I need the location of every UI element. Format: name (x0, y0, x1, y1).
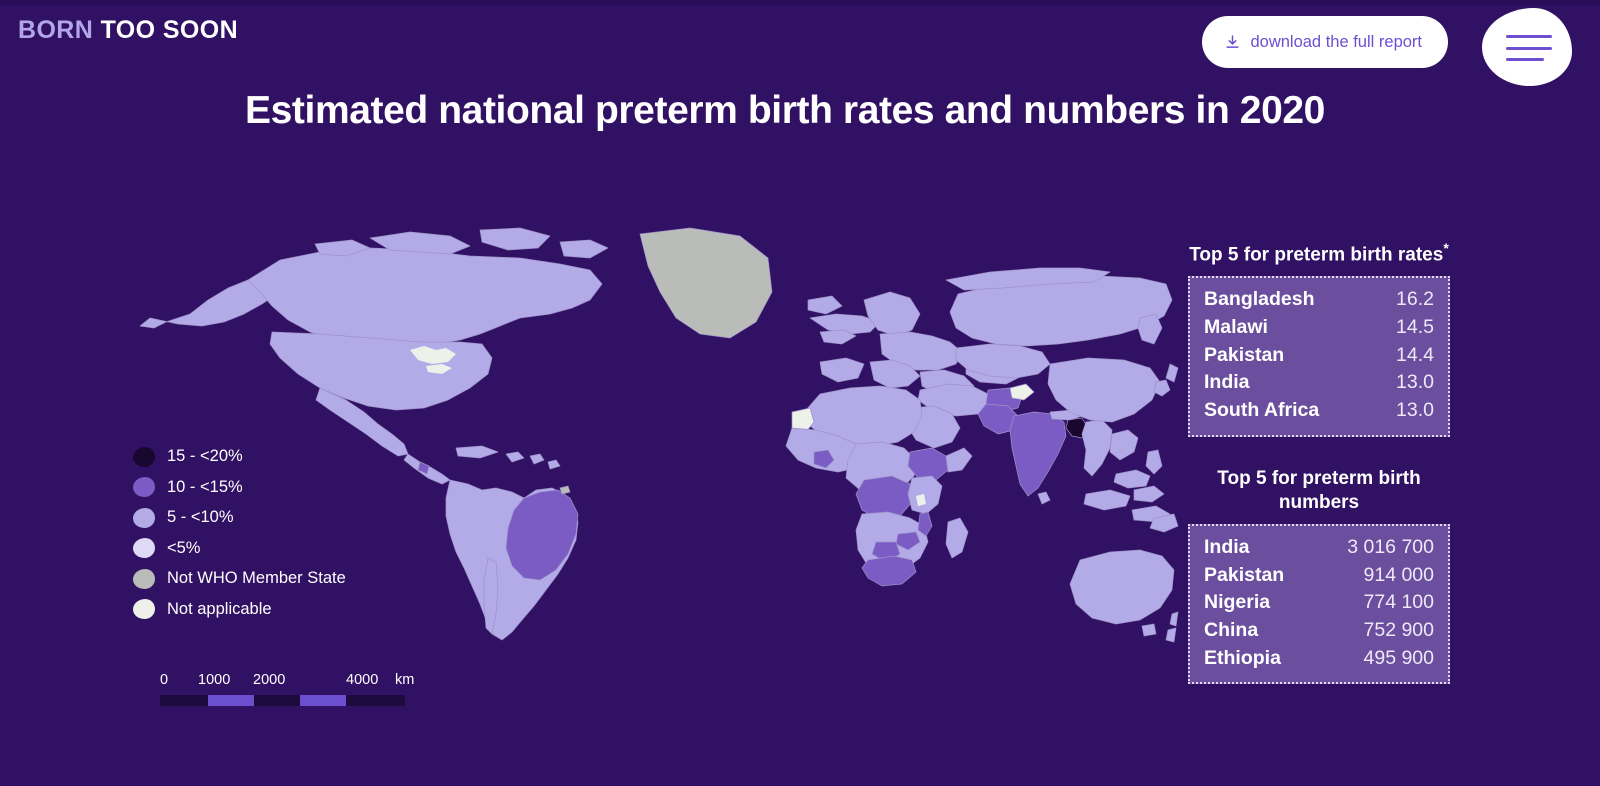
logo-word-toosoon: TOO SOON (101, 16, 238, 44)
scale-bar-graphic (160, 695, 405, 706)
legend-label: Not WHO Member State (167, 569, 346, 588)
top5-numbers-panel: Top 5 for preterm birth numbers India 3 … (1188, 467, 1450, 684)
top5-numbers-box: India 3 016 700 Pakistan 914 000 Nigeria… (1188, 524, 1450, 684)
country-name: China (1204, 617, 1258, 645)
scale-tick-2000: 2000 (253, 672, 285, 688)
page-root: BORN TOO SOON download the full report E… (0, 0, 1600, 786)
top5-rates-box: Bangladesh 16.2 Malawi 14.5 Pakistan 14.… (1188, 276, 1450, 436)
legend-item: 5 - <10% (133, 506, 346, 529)
country-value: 16.2 (1396, 286, 1434, 314)
table-row: Malawi 14.5 (1204, 314, 1434, 342)
country-value: 774 100 (1364, 589, 1435, 617)
top-strip (0, 0, 1600, 5)
top5-rates-heading: Top 5 for preterm birth rates* (1189, 240, 1449, 267)
country-name: South Africa (1204, 397, 1319, 425)
country-name: Pakistan (1204, 342, 1284, 370)
country-value: 13.0 (1396, 369, 1434, 397)
scale-unit-label: km (395, 672, 414, 688)
legend-item: Not WHO Member State (133, 567, 346, 590)
table-row: South Africa 13.0 (1204, 397, 1434, 425)
legend-swatch-icon (133, 477, 155, 497)
legend-swatch-icon (133, 508, 155, 528)
scale-tick-labels: 0 1000 2000 4000 km (160, 672, 410, 692)
table-row: China 752 900 (1204, 617, 1434, 645)
country-name: Bangladesh (1204, 286, 1315, 314)
country-value: 14.5 (1396, 314, 1434, 342)
country-value: 13.0 (1396, 397, 1434, 425)
legend-swatch-icon (133, 569, 155, 589)
legend-item: <5% (133, 537, 346, 560)
legend-item: 10 - <15% (133, 476, 346, 499)
download-button-label: download the full report (1250, 33, 1422, 52)
country-value: 14.4 (1396, 342, 1434, 370)
country-name: Ethiopia (1204, 645, 1281, 673)
logo-word-born: BORN (18, 16, 93, 44)
legend-label: <5% (167, 539, 200, 558)
legend-item: Not applicable (133, 598, 346, 621)
hamburger-menu-button[interactable] (1482, 8, 1572, 86)
table-row: Ethiopia 495 900 (1204, 645, 1434, 673)
country-value: 3 016 700 (1347, 534, 1434, 562)
legend-label: 10 - <15% (167, 478, 243, 497)
table-row: Pakistan 914 000 (1204, 562, 1434, 590)
legend-label: Not applicable (167, 600, 272, 619)
legend-swatch-icon (133, 447, 155, 467)
legend-label: 5 - <10% (167, 508, 234, 527)
scale-tick-1000: 1000 (198, 672, 230, 688)
legend-label: 15 - <20% (167, 447, 243, 466)
download-full-report-button[interactable]: download the full report (1202, 16, 1448, 68)
country-name: India (1204, 369, 1250, 397)
download-icon (1224, 34, 1241, 51)
top5-numbers-heading: Top 5 for preterm birth numbers (1189, 467, 1449, 515)
table-row: Pakistan 14.4 (1204, 342, 1434, 370)
page-title: Estimated national preterm birth rates a… (200, 88, 1370, 134)
scale-tick-0: 0 (160, 672, 168, 688)
country-value: 495 900 (1364, 645, 1435, 673)
hamburger-menu-icon (1506, 35, 1552, 61)
country-name: Pakistan (1204, 562, 1284, 590)
map-scale-bar: 0 1000 2000 4000 km (160, 672, 410, 706)
table-row: Nigeria 774 100 (1204, 589, 1434, 617)
site-logo[interactable]: BORN TOO SOON (18, 16, 238, 45)
table-row: Bangladesh 16.2 (1204, 286, 1434, 314)
country-name: Malawi (1204, 314, 1268, 342)
map-legend: 15 - <20% 10 - <15% 5 - <10% <5% Not WHO… (133, 445, 346, 621)
footnote-marker: * (1443, 240, 1448, 256)
legend-swatch-icon (133, 599, 155, 619)
country-name: Nigeria (1204, 589, 1270, 617)
table-row: India 3 016 700 (1204, 534, 1434, 562)
top5-rates-panel: Top 5 for preterm birth rates* Banglades… (1188, 240, 1450, 437)
country-value: 752 900 (1364, 617, 1435, 645)
country-value: 914 000 (1364, 562, 1435, 590)
legend-item: 15 - <20% (133, 445, 346, 468)
legend-swatch-icon (133, 538, 155, 558)
scale-tick-4000: 4000 (346, 672, 378, 688)
top5-rates-heading-text: Top 5 for preterm birth rates (1189, 244, 1443, 265)
table-row: India 13.0 (1204, 369, 1434, 397)
country-name: India (1204, 534, 1250, 562)
